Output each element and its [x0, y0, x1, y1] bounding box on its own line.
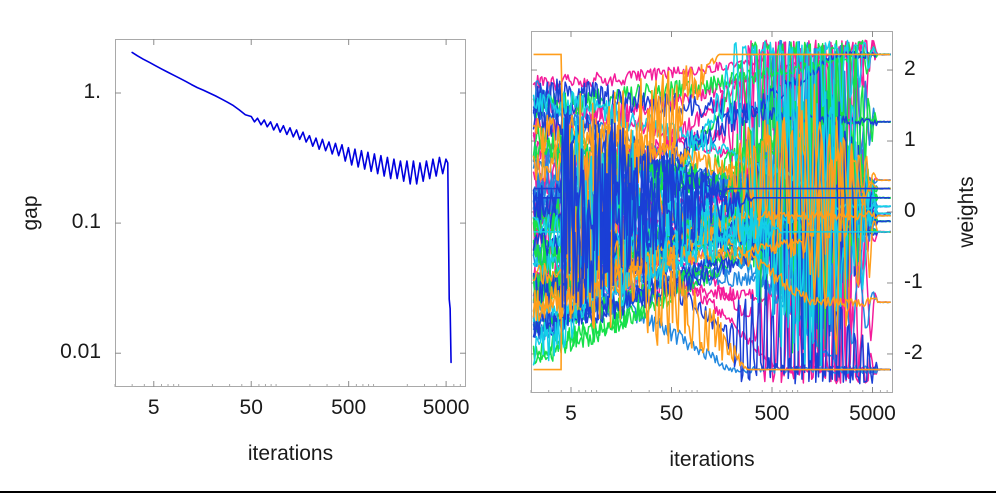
gap-y-axis-title: gap — [19, 163, 43, 263]
weights-ytick-label-1: 1 — [904, 129, 994, 150]
gap-panel: 1. 0.1 0.01 5 50 500 5000 gap iterations — [0, 0, 498, 498]
bottom-divider-rule — [0, 491, 996, 493]
gap-ytick-label-0p1: 0.1 — [0, 211, 101, 232]
gap-x-axis-title: iterations — [201, 442, 381, 466]
gap-xtick-label-5000: 5000 — [386, 397, 506, 418]
weights-ytick-label-m1: -1 — [904, 271, 994, 292]
weights-xtick-label-5000: 5000 — [812, 403, 932, 424]
weights-y-axis-title: weights — [955, 162, 979, 262]
weights-ytick-label-m2: -2 — [904, 342, 994, 363]
weights-panel: 2 1 0 -1 -2 5 50 500 5000 weights iterat… — [498, 0, 996, 498]
weights-ytick-label-2: 2 — [904, 58, 994, 79]
weights-x-axis-title: iterations — [622, 448, 802, 472]
gap-ytick-label-1: 1. — [0, 81, 101, 102]
gap-ytick-label-0p01: 0.01 — [0, 341, 101, 362]
weights-ytick-label-0: 0 — [904, 200, 994, 221]
